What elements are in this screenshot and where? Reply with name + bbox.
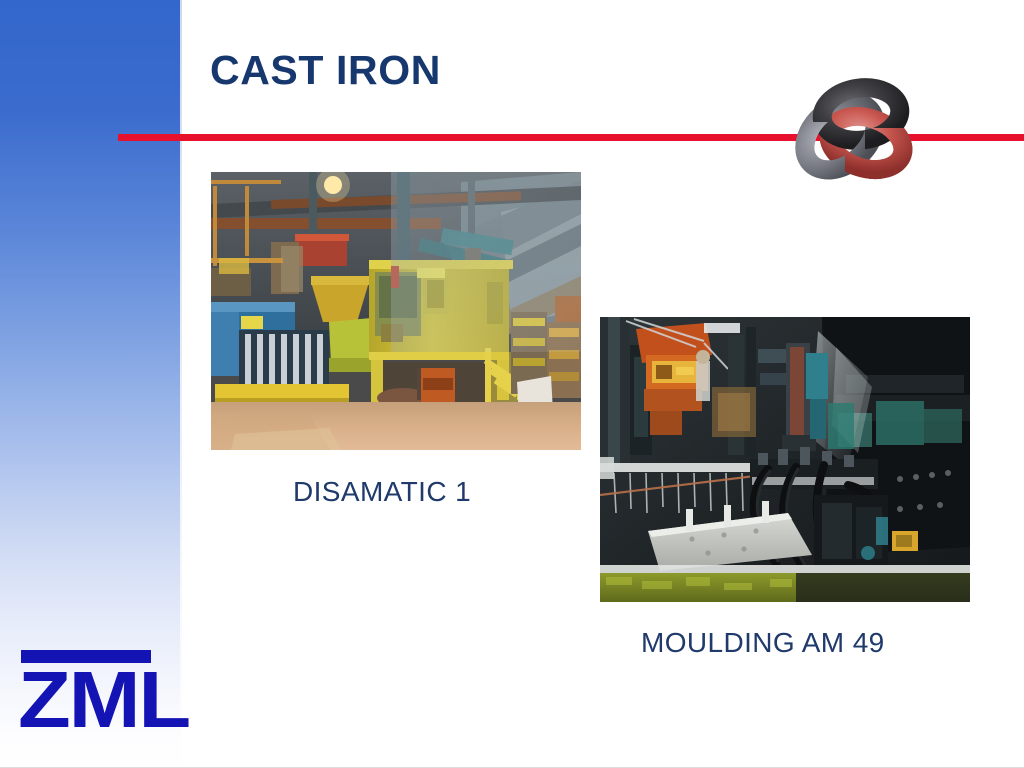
figure-image-moulding — [600, 317, 970, 602]
figure-caption-moulding: MOULDING AM 49 — [641, 627, 885, 659]
trefoil-knot-logo — [793, 70, 915, 182]
figure-caption-disamatic: DISAMATIC 1 — [293, 476, 471, 508]
sidebar-edge-divider — [180, 0, 182, 768]
slide-canvas: CAST IRON — [0, 0, 1024, 768]
zml-logo-text: ZML — [18, 660, 189, 740]
zml-logo: ZML — [18, 650, 166, 748]
figure-image-disamatic — [211, 172, 581, 450]
page-title: CAST IRON — [210, 47, 441, 94]
